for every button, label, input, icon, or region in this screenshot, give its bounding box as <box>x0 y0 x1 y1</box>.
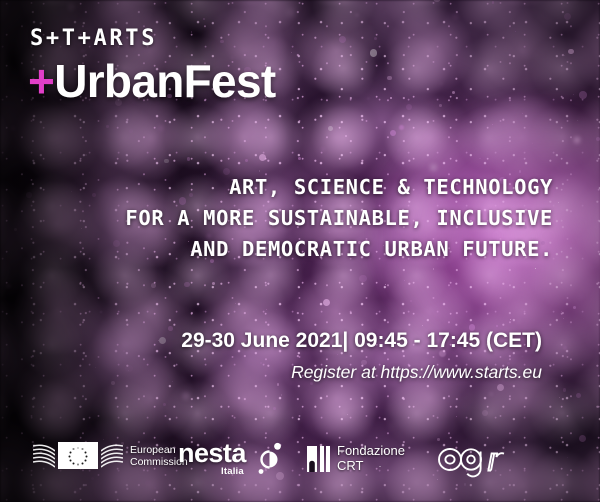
plus-accent: + <box>28 55 54 107</box>
brand-lockup: S+T+ARTS <box>30 28 157 50</box>
register-link[interactable]: Register at https://www.starts.eu <box>291 362 542 383</box>
crt-bars-icon <box>307 446 330 472</box>
sponsor-logo-strip: European Commission nesta Italia <box>0 432 600 494</box>
logo-european-commission: European Commission <box>33 442 188 469</box>
event-datetime: 29-30 June 2021| 09:45 - 17:45 (CET) <box>181 329 542 352</box>
crt-label: Fondazione CRT <box>337 444 405 473</box>
eu-flag-icon <box>58 442 98 469</box>
nesta-circle-icon <box>256 442 283 475</box>
ec-wave-left-icon <box>33 442 55 469</box>
logo-nesta-italia: nesta Italia <box>178 440 283 477</box>
ogr-outline-icon <box>437 444 509 478</box>
starts-wordmark: S+T+ARTS <box>30 28 157 50</box>
headline: ART, SCIENCE & TECHNOLOGY FOR A MORE SUS… <box>125 172 553 265</box>
ec-wave-right-icon <box>101 442 123 469</box>
headline-line-3: AND DEMOCRATIC URBAN FUTURE. <box>125 234 553 265</box>
crt-bar-3 <box>326 446 330 472</box>
headline-line-2: FOR A MORE SUSTAINABLE, INCLUSIVE <box>125 203 553 234</box>
headline-line-1: ART, SCIENCE & TECHNOLOGY <box>125 172 553 203</box>
logo-ogr <box>437 444 509 478</box>
eu-flag-waves-icon <box>33 442 123 469</box>
crt-bar-2 <box>320 446 324 472</box>
crt-label-line-2: CRT <box>337 459 405 474</box>
nesta-wordmark: nesta <box>178 440 246 467</box>
urbanfest-wordmark: +UrbanFest <box>28 58 275 104</box>
urbanfest-label: UrbanFest <box>54 55 275 107</box>
crt-bar-arch-icon <box>307 446 317 472</box>
crt-label-line-1: Fondazione <box>337 444 405 459</box>
logo-fondazione-crt: Fondazione CRT <box>307 444 405 473</box>
poster: S+T+ARTS +UrbanFest ART, SCIENCE & TECHN… <box>0 0 600 502</box>
